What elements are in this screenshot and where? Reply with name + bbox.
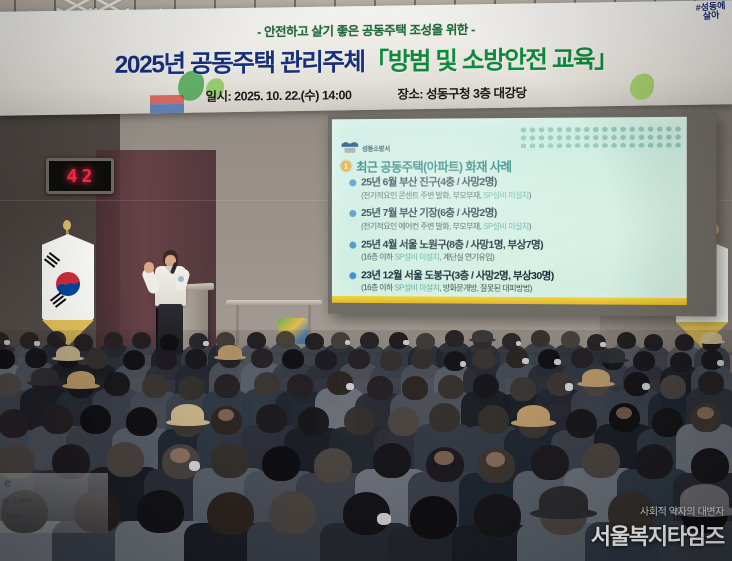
audience-member-head xyxy=(178,376,204,400)
audience-member-head xyxy=(123,350,145,370)
audience-member-head xyxy=(675,334,694,351)
audience-member-head xyxy=(247,332,266,349)
presenter-left-hand xyxy=(144,262,154,273)
watermark-tagline: 사회적 약자의 대변자 xyxy=(591,503,724,518)
audience-member-head xyxy=(691,448,729,483)
slide-bullet-text: 23년 12월 서울 도봉구(3층 / 사망2명, 부상30명) xyxy=(361,269,554,282)
audience-member-head xyxy=(282,349,304,369)
audience-member-head xyxy=(137,490,184,533)
audience-member-head xyxy=(106,442,144,477)
slide-bottom-accent-bar xyxy=(332,296,687,305)
audience-member-head xyxy=(360,332,379,349)
audience-member-head xyxy=(474,494,521,537)
slide-org-label: 성동소방서 xyxy=(362,142,390,152)
slide-org-logo: 성동소방서 xyxy=(342,141,390,154)
audience-member-head xyxy=(305,333,324,350)
audience-member-head xyxy=(367,376,393,400)
audience-member-head xyxy=(571,348,593,368)
audience-member-head xyxy=(155,350,177,370)
banner-subtitle: - 안전하고 살기 좋은 공동주택 조성을 위한 - xyxy=(0,16,732,43)
audience-member-head xyxy=(344,406,375,435)
bullet-dot-icon xyxy=(349,241,356,248)
audience-member-head xyxy=(80,405,111,434)
audience-member-head xyxy=(416,333,435,350)
audience-member-head xyxy=(633,351,655,371)
audience-member-head xyxy=(473,349,495,369)
audience-member-head xyxy=(269,491,316,534)
subtext-post: , 계단실 연기유입) xyxy=(439,253,494,262)
audience-member-head xyxy=(373,443,411,478)
audience-member-face-mask xyxy=(600,342,606,347)
subtext-pre: (전기적요인 에어컨 주변 발화, 부모부재, xyxy=(361,222,483,231)
audience-member-head xyxy=(582,443,620,478)
background-poster-left: e er, Lyon , Rep xyxy=(0,473,108,533)
slide-bullet-text: 25년 7월 부산 기장(6층 / 사망2명) xyxy=(361,207,497,219)
bullet-dot-icon xyxy=(349,272,356,279)
subtext-sp-tag: SP설비 미설치 xyxy=(394,284,439,293)
audience-member-head xyxy=(617,332,636,349)
event-banner: - 안전하고 살기 좋은 공동주택 조성을 위한 - 2025년 공동주택 관리… xyxy=(0,0,732,115)
bullet-dot-icon xyxy=(349,179,356,186)
audience-member-head xyxy=(445,330,464,347)
slide-bullet-item: 25년 6월 부산 진구(4층 / 사망2명)(전기적요인 콘센트 주변 발화,… xyxy=(349,176,678,200)
slide-bullet-item: 25년 7월 부산 기장(6층 / 사망2명)(전기적요인 에어컨 주변 발화,… xyxy=(349,207,678,231)
audience-member-face-mask xyxy=(717,360,724,366)
projection-screen: 성동소방서 1 최근 공동주택(아파트) 화재 사례 25년 6월 부산 진구(… xyxy=(328,112,716,317)
audience-member-bald-spot xyxy=(170,448,190,463)
audience-member-head xyxy=(262,446,300,481)
audience-member-head xyxy=(86,349,108,369)
slide-bullet-item: 23년 12월 서울 도봉구(3층 / 사망2명, 부상30명)(16층 이하 … xyxy=(349,269,678,294)
audience-member-head xyxy=(429,403,460,432)
audience-member-head xyxy=(287,374,313,398)
audience-member-head xyxy=(315,350,337,370)
slide-bullet-main-row: 25년 4월 서울 노원구(8층 / 사망1명, 부상7명) xyxy=(349,238,678,251)
subtext-pre: (전기적요인 콘센트 주변 발화, 부모부재, xyxy=(361,191,483,200)
subtext-pre: (16층 이하 xyxy=(361,253,394,262)
audience-member-bald-spot xyxy=(616,407,632,419)
audience-member-head xyxy=(214,374,240,398)
banner-title-green: 「방범 및 소방안전 교육」 xyxy=(365,46,618,76)
audience-member-face-mask xyxy=(346,383,354,390)
bullet-dot-icon xyxy=(349,210,356,217)
poster-text-line3: , Rep xyxy=(2,511,22,521)
audience-member-head xyxy=(635,444,673,479)
audience-member-head xyxy=(276,331,295,348)
subtext-post: ) xyxy=(529,191,531,200)
audience-member-head xyxy=(566,409,597,438)
slide-bullet-text: 25년 6월 부산 진구(4층 / 사망2명) xyxy=(361,176,497,188)
slide-bullet-main-row: 23년 12월 서울 도봉구(3층 / 사망2명, 부상30명) xyxy=(349,269,678,283)
audience-member-face-mask xyxy=(554,359,561,365)
slide-bullet-main-row: 25년 6월 부산 진구(4층 / 사망2명) xyxy=(349,176,678,189)
audience-member-head xyxy=(670,352,692,372)
slide-bullet-text: 25년 4월 서울 노원구(8층 / 사망1명, 부상7명) xyxy=(361,238,543,250)
poster-text-line2: er, Lyon xyxy=(2,495,32,505)
slide-bullet-item: 25년 4월 서울 노원구(8층 / 사망1명, 부상7명)(16층 이하 SP… xyxy=(349,238,678,263)
audience-member-head xyxy=(644,334,663,351)
subtext-pre: (16층 이하 xyxy=(361,283,394,292)
subtext-sp-tag: SP설비 미설치 xyxy=(394,253,439,262)
audience-member-head xyxy=(185,349,207,369)
audience-member-head xyxy=(698,371,724,395)
audience-member-head xyxy=(142,374,168,398)
led-wall-clock: 4 2 xyxy=(46,158,114,194)
banner-title-navy: 2025년 공동주택 관리주체 xyxy=(115,49,365,79)
slide-bullet-subtext: (16층 이하 SP설비 미설치, 계단실 연기유입) xyxy=(361,253,678,263)
clock-digit-left: 4 xyxy=(67,166,79,187)
audience-member-head xyxy=(298,407,329,436)
audience-member-head xyxy=(314,448,352,483)
audience-member-head xyxy=(473,374,499,398)
banner-title: 2025년 공동주택 관리주체「방범 및 소방안전 교육」 xyxy=(0,39,732,82)
audience-member-head xyxy=(531,330,550,347)
audience-member-head xyxy=(256,404,287,433)
audience-member-face-mask xyxy=(345,340,351,345)
subtext-post: , 방화문개방, 잘못된 대피방법) xyxy=(439,284,532,293)
banner-date: 일시: 2025. 10. 22.(수) 14:00 xyxy=(206,88,352,104)
audience-member-head xyxy=(411,349,433,369)
slide-bullet-subtext: (16층 이하 SP설비 미설치, 방화문개방, 잘못된 대피방법) xyxy=(361,283,678,294)
banner-place: 장소: 성동구청 3층 대강당 xyxy=(397,86,526,101)
audience-member-hat-brim xyxy=(577,381,614,387)
subtext-sp-tag: SP설비 미설치 xyxy=(483,222,529,231)
slide-dot-pattern-decoration xyxy=(519,125,681,148)
banner-hashtag: #성동에 살아 xyxy=(696,1,727,22)
photo-scene: (function(){ const c=document.querySelec… xyxy=(0,0,732,561)
presentation-slide: 성동소방서 1 최근 공동주택(아파트) 화재 사례 25년 6월 부산 진구(… xyxy=(332,117,687,305)
fire-department-emblem-icon xyxy=(342,141,359,154)
slide-bullet-list: 25년 6월 부산 진구(4층 / 사망2명)(전기적요인 콘센트 주변 발화,… xyxy=(349,176,678,302)
audience-member-head xyxy=(510,377,536,401)
audience-member-head xyxy=(0,373,21,397)
slide-bullet-subtext: (전기적요인 콘센트 주변 발화, 부모부재, SP설비 미설치) xyxy=(361,190,678,200)
audience-member-head xyxy=(104,372,130,396)
audience-member-hat-brim xyxy=(511,419,556,427)
subtext-sp-tag: SP설비 미설치 xyxy=(483,191,529,200)
audience-member-head xyxy=(402,376,428,400)
banner-meta: 일시: 2025. 10. 22.(수) 14:00장소: 성동구청 3층 대강… xyxy=(0,80,732,107)
slide-bullet-subtext: (전기적요인 에어컨 주변 발화, 부모부재, SP설비 미설치) xyxy=(361,222,678,231)
flag-finial-icon xyxy=(63,220,71,230)
audience-member-head xyxy=(25,348,47,368)
audience-member-head xyxy=(660,375,686,399)
audience-member-head xyxy=(348,349,370,369)
audience-member-head xyxy=(0,409,29,438)
slide-bullet-main-row: 25년 7월 부산 기장(6층 / 사망2명) xyxy=(349,207,678,219)
presenter-shoulder-patch xyxy=(178,276,184,282)
watermark-outlet-name: 서울복지타임즈 xyxy=(591,519,724,551)
audience-member-head xyxy=(410,496,457,539)
audience-member-head xyxy=(380,351,402,371)
audience-member-head xyxy=(251,348,273,368)
audience-member-bald-spot xyxy=(697,407,713,419)
slide-section-number: 1 xyxy=(341,161,352,172)
publisher-watermark: 사회적 약자의 대변자 서울복지타임즈 xyxy=(591,503,724,551)
audience-member-head xyxy=(104,332,123,349)
audience-member-head xyxy=(160,334,179,351)
audience-member-head xyxy=(126,407,157,436)
poster-text-line1: e xyxy=(4,475,11,490)
slide-section-title: 최근 공동주택(아파트) 화재 사례 xyxy=(356,156,511,175)
slide-section-heading: 1 최근 공동주택(아파트) 화재 사례 xyxy=(341,156,512,175)
audience-member-head xyxy=(132,332,151,349)
subtext-post: ) xyxy=(529,222,531,231)
clock-digit-right: 2 xyxy=(82,166,94,187)
audience-member-head xyxy=(561,331,580,348)
